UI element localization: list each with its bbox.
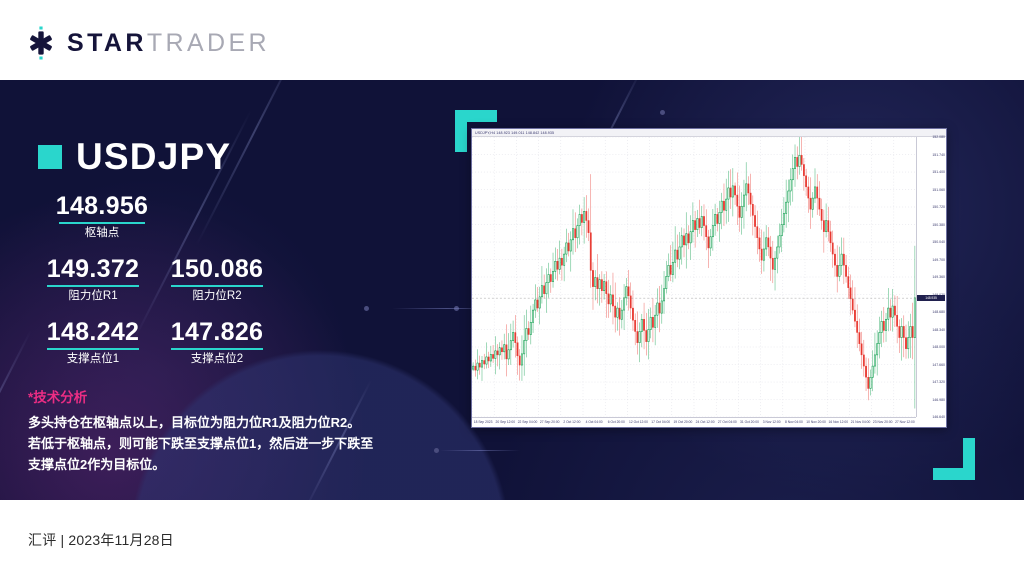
page-header: STAR TRADER	[0, 0, 1024, 80]
time-tick: 27 Oct 04:00	[718, 420, 737, 424]
level-r1-label: 阻力位R1	[38, 290, 148, 304]
level-r2-label: 阻力位R2	[162, 290, 272, 304]
pivot-row: 148.956 枢轴点	[38, 192, 298, 241]
level-pivot-rule	[59, 222, 145, 224]
candlestick-chart[interactable]: USDJPY,H4 148.923 149.011 148.842 148.93…	[471, 128, 947, 428]
price-tick: 151.400	[932, 170, 945, 174]
time-tick: 3 Nov 12:00	[763, 420, 781, 424]
time-tick: 12 Oct 12:00	[629, 420, 648, 424]
price-tick: 147.320	[932, 380, 945, 384]
price-tick: 150.720	[932, 205, 945, 209]
pair-color-swatch	[38, 145, 62, 169]
chart-zone: USDJPY,H4 148.923 149.011 148.842 148.93…	[455, 110, 975, 480]
analysis-line-3: 支撑点位2作为目标位。	[28, 454, 400, 475]
decorative-dot-4	[434, 448, 439, 453]
chart-title: USDJPY,H4 148.923 149.011 148.842 148.93…	[472, 129, 946, 137]
level-s2: 147.826 支撑点位2	[162, 318, 272, 367]
level-s2-rule	[171, 348, 263, 350]
price-tick: 146.640	[932, 415, 945, 419]
time-tick: 27 Sep 20:00	[540, 420, 560, 424]
time-axis: 18 Sep 202320 Sep 12:0022 Sep 04:0027 Se…	[472, 417, 916, 427]
technical-analysis: *技术分析 多头持仓在枢轴点以上，目标位为阻力位R1及阻力位R2。 若低于枢轴点…	[28, 386, 400, 475]
level-r1-rule	[47, 285, 139, 287]
pair-title-row: USDJPY	[38, 136, 231, 178]
time-tick: 17 Oct 04:00	[651, 420, 670, 424]
resistance-row: 149.372 阻力位R1 150.086 阻力位R2	[38, 255, 298, 304]
level-pivot: 148.956 枢轴点	[38, 192, 166, 241]
time-tick: 8 Nov 04:00	[785, 420, 803, 424]
time-tick: 4 Oct 04:00	[586, 420, 603, 424]
time-tick: 20 Sep 12:00	[495, 420, 515, 424]
time-tick: 24 Oct 12:00	[696, 420, 715, 424]
level-s1: 148.242 支撑点位1	[38, 318, 148, 367]
price-tick: 152.080	[932, 135, 945, 139]
time-tick: 27 Nov 12:00	[895, 420, 915, 424]
price-tick: 150.380	[932, 223, 945, 227]
six-point-star-icon	[24, 26, 58, 60]
level-s2-label: 支撑点位2	[162, 353, 272, 367]
level-r2-rule	[171, 285, 263, 287]
pivot-levels: 148.956 枢轴点 149.372 阻力位R1 150.086 阻力位R2 …	[38, 192, 298, 366]
level-s1-label: 支撑点位1	[38, 353, 148, 367]
time-tick: 21 Nov 04:00	[851, 420, 871, 424]
brand-name-bold: STAR	[67, 29, 147, 58]
time-tick: 23 Nov 20:00	[873, 420, 893, 424]
decorative-streak-3	[0, 330, 32, 500]
time-tick: 22 Sep 04:00	[518, 420, 538, 424]
level-r2-value: 150.086	[162, 255, 272, 283]
level-r1-value: 149.372	[38, 255, 148, 283]
main-stage: USDJPY 148.956 枢轴点 149.372 阻力位R1 150.086…	[0, 80, 1024, 500]
price-tick: 151.740	[932, 153, 945, 157]
page-title: USDJPY	[76, 136, 231, 178]
time-tick: 2 Oct 12:00	[563, 420, 580, 424]
time-tick: 6 Oct 20:00	[608, 420, 625, 424]
brand-logo: STAR TRADER	[24, 26, 270, 60]
price-tick: 148.680	[932, 310, 945, 314]
time-tick: 31 Oct 20:00	[740, 420, 759, 424]
level-pivot-value: 148.956	[38, 192, 166, 220]
price-tick: 146.980	[932, 398, 945, 402]
price-tick: 148.000	[932, 345, 945, 349]
brand-name-light: TRADER	[147, 29, 270, 58]
price-tick: 150.040	[932, 240, 945, 244]
analysis-line-2: 若低于枢轴点，则可能下跌至支撑点位1，然后进一步下跌至	[28, 433, 400, 454]
price-tick: 151.060	[932, 188, 945, 192]
analysis-line-1: 多头持仓在枢轴点以上，目标位为阻力位R1及阻力位R2。	[28, 412, 400, 433]
level-r2: 150.086 阻力位R2	[162, 255, 272, 304]
level-s1-value: 148.242	[38, 318, 148, 346]
analysis-body: 多头持仓在枢轴点以上，目标位为阻力位R1及阻力位R2。 若低于枢轴点，则可能下跌…	[28, 412, 400, 475]
footer-caption: 汇评 | 2023年11月28日	[28, 530, 174, 550]
price-axis: 152.080151.740151.400151.060150.720150.3…	[916, 137, 946, 417]
level-r1: 149.372 阻力位R1	[38, 255, 148, 304]
decorative-dot-1	[364, 306, 369, 311]
page-footer: 汇评 | 2023年11月28日	[0, 500, 1024, 576]
candles-svg	[472, 137, 916, 417]
corner-bracket-bottom-right-icon	[933, 438, 975, 480]
brand-wordmark: STAR TRADER	[67, 29, 270, 58]
price-tick: 149.700	[932, 258, 945, 262]
time-tick: 10 Nov 20:00	[806, 420, 826, 424]
level-s2-value: 147.826	[162, 318, 272, 346]
current-price-tag: 148.935	[917, 295, 945, 301]
price-tick: 149.360	[932, 275, 945, 279]
analysis-title: *技术分析	[28, 386, 400, 406]
price-tick: 147.660	[932, 363, 945, 367]
level-pivot-label: 枢轴点	[38, 227, 166, 241]
chart-plot-area[interactable]	[472, 137, 916, 417]
time-tick: 18 Sep 2023	[474, 420, 493, 424]
price-tick: 148.340	[932, 328, 945, 332]
time-tick: 19 Oct 20:00	[673, 420, 692, 424]
support-row: 148.242 支撑点位1 147.826 支撑点位2	[38, 318, 298, 367]
time-tick: 16 Nov 12:00	[828, 420, 848, 424]
level-s1-rule	[47, 348, 139, 350]
